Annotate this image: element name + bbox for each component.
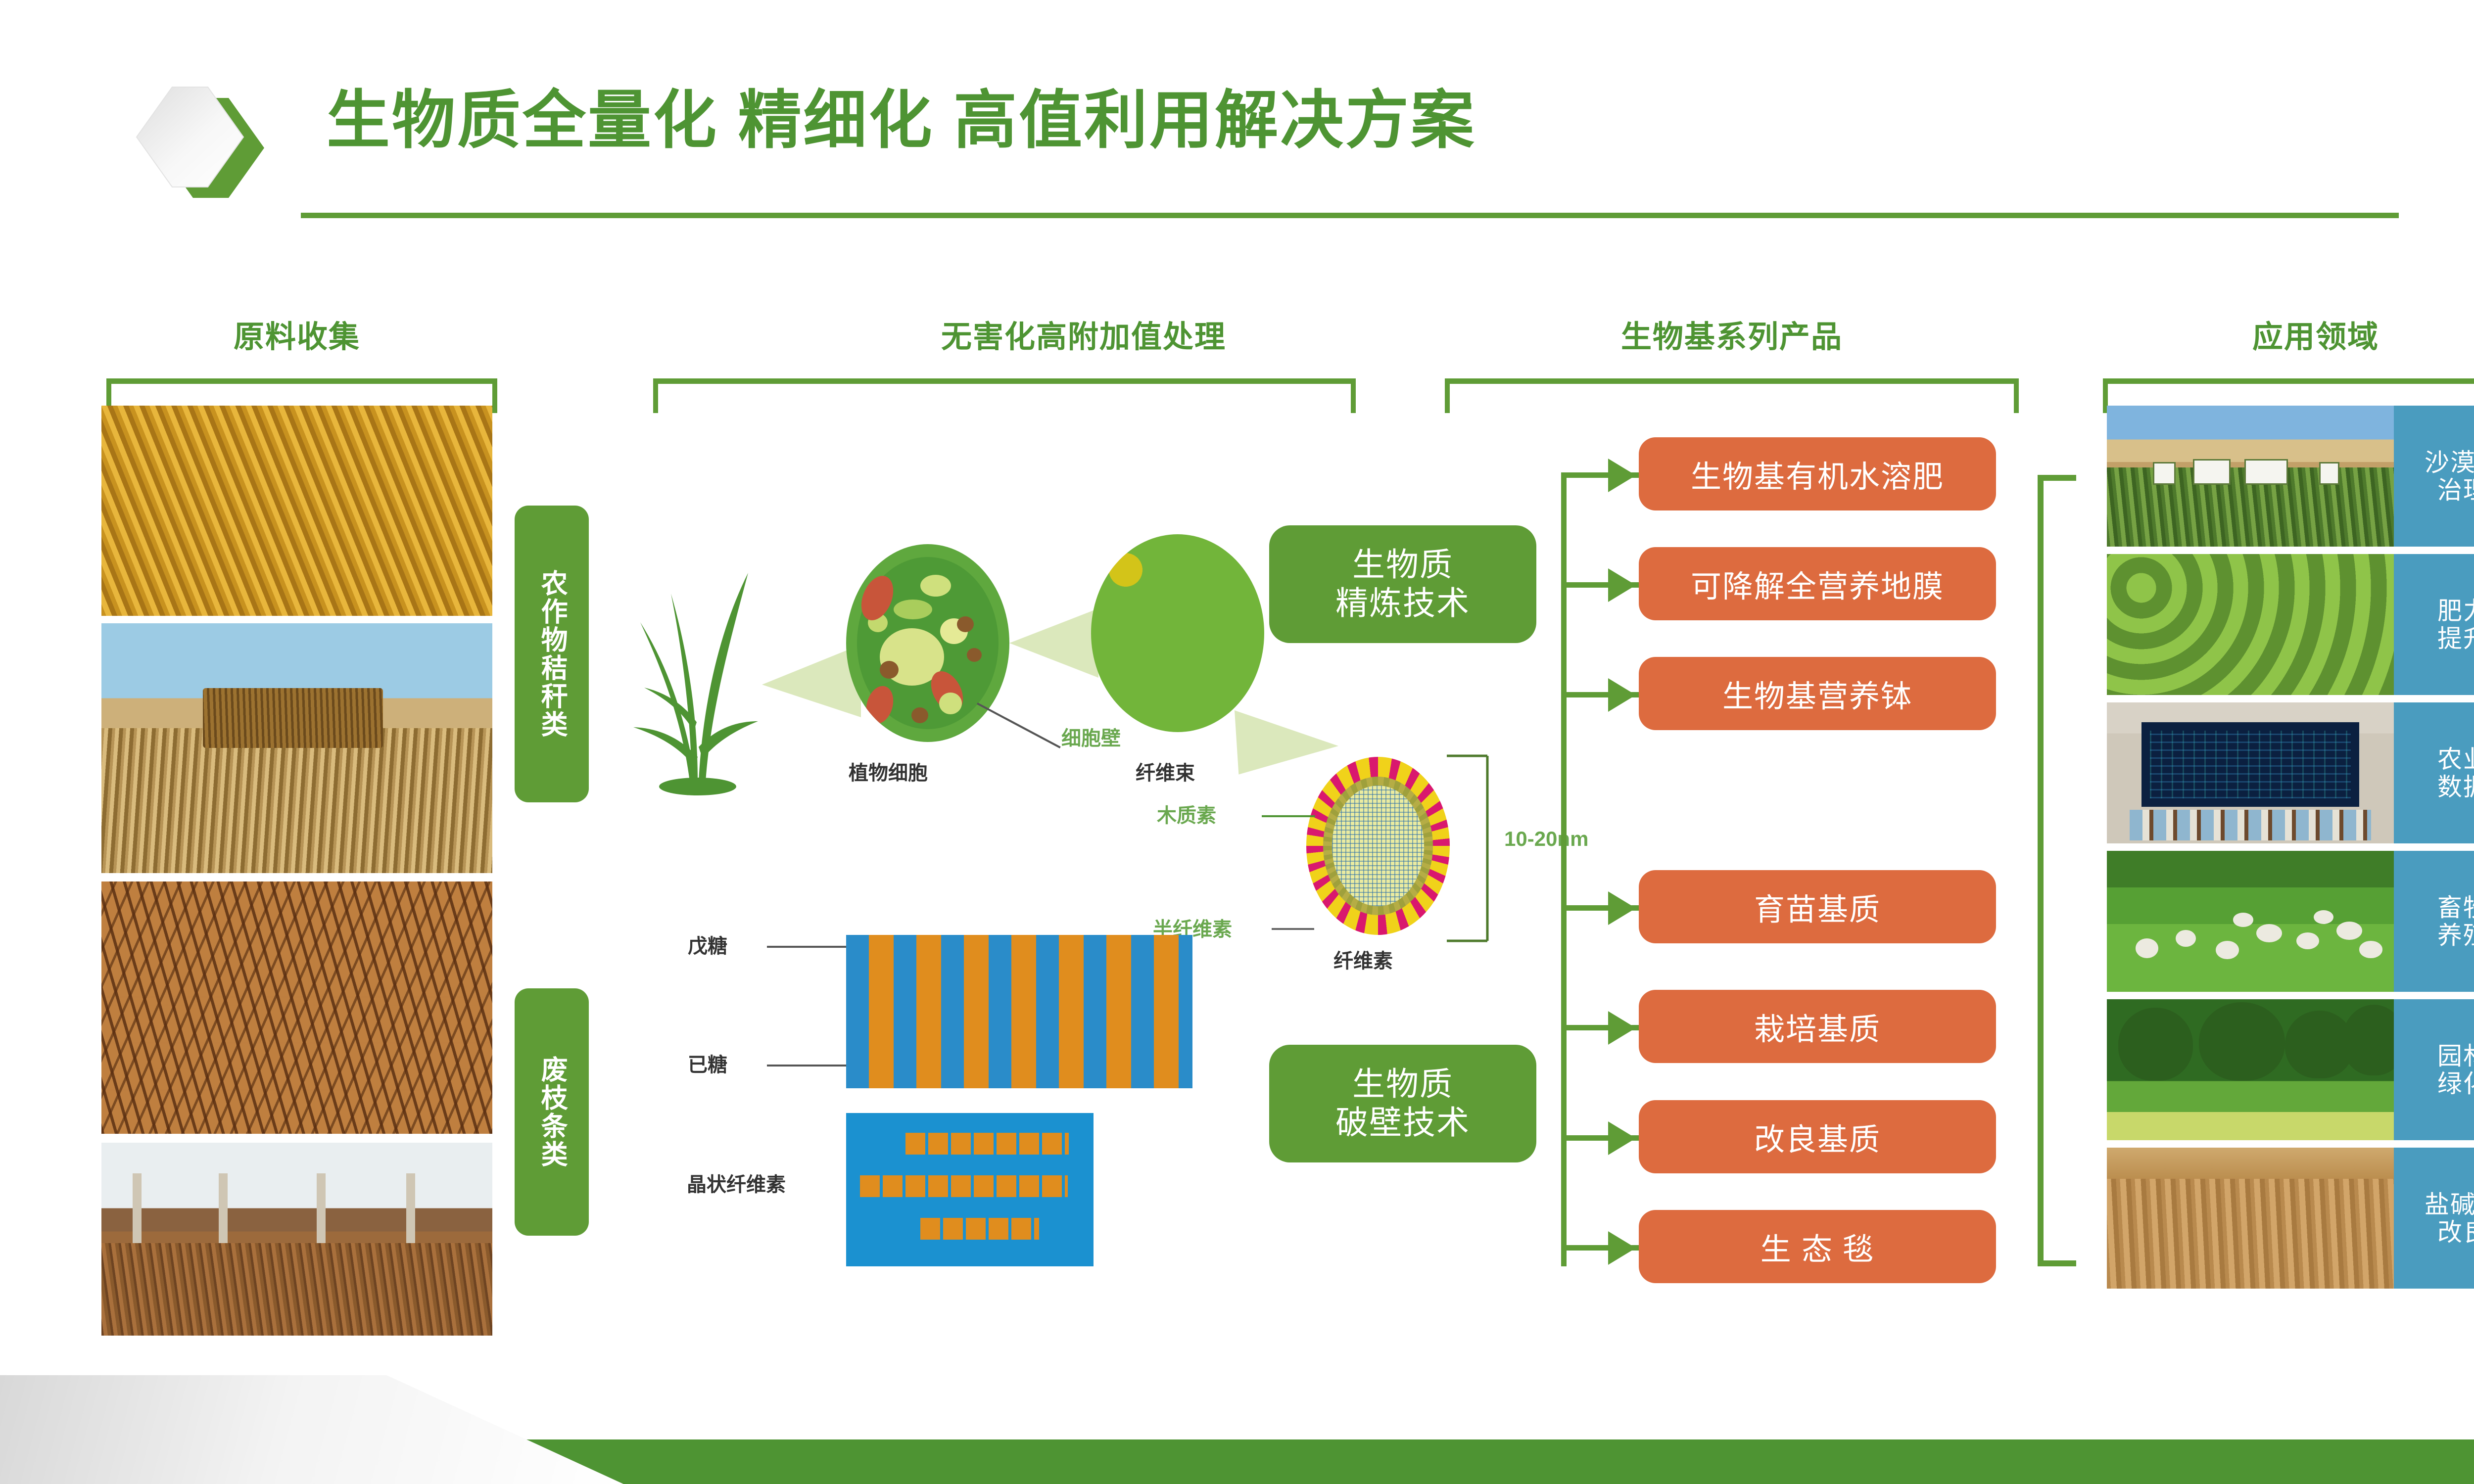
label-fiber-bundle: 纤维束	[1136, 757, 1195, 786]
beam-bundle-to-fiber	[1235, 693, 1338, 782]
product-pill-0[interactable]: 生物基有机水溶肥	[1639, 437, 1996, 510]
application-tag-livestock: 畜牧 养殖	[2394, 851, 2474, 992]
title-underline	[301, 213, 2399, 218]
app-tag-line1: 畜牧	[2437, 894, 2474, 922]
section-title-applications: 应用领域	[2093, 312, 2474, 356]
tech-line-1: 生物质	[1352, 1065, 1453, 1104]
app-tag-line2: 数据	[2437, 773, 2474, 801]
application-tag-desertification: 沙漠化 治理	[2394, 406, 2474, 547]
scale-bar-icon	[1445, 752, 1504, 945]
application-row-livestock[interactable]: 畜牧 养殖	[2107, 851, 2474, 992]
tech-line-1: 生物质	[1352, 546, 1453, 584]
footer-wedge-decoration	[0, 1375, 623, 1484]
hemicellulose-leader-line	[1272, 928, 1314, 930]
application-row-fertility[interactable]: 肥力 提升	[2107, 554, 2474, 695]
product-pill-6[interactable]: 生 态 毯	[1639, 1210, 1996, 1283]
application-domain-column: 沙漠化 治理 肥力 提升 农业 数据	[2107, 406, 2474, 1341]
photo-sheep-pasture	[2107, 851, 2394, 992]
label-lignin: 木质素	[1157, 799, 1216, 828]
title-bar: 生物质全量化 精细化 高值利用解决方案	[0, 0, 2474, 232]
pentose-leader-line	[767, 946, 846, 948]
beam-cell-to-bundle	[1009, 608, 1098, 678]
section-bracket-processing	[653, 378, 1356, 413]
product-pill-5[interactable]: 改良基质	[1639, 1100, 1996, 1173]
page-title: 生物质全量化 精细化 高值利用解决方案	[327, 89, 1476, 152]
cell-wall-leader-line	[977, 702, 1061, 748]
photo-vineyard-pruning	[101, 1143, 492, 1336]
application-tag-saline: 盐碱地 改良	[2394, 1148, 2474, 1289]
raw-material-photo-column	[101, 406, 492, 1336]
product-pill-3[interactable]: 育苗基质	[1639, 870, 1996, 943]
beam-plant-to-cell	[762, 643, 861, 717]
photo-straw-bale-field	[101, 623, 492, 873]
label-pentose: 戊糖	[688, 930, 727, 959]
photo-cabbage-field	[2107, 554, 2394, 695]
crystal-cellulose-illustration	[846, 1113, 1094, 1266]
label-crystal-cellulose: 晶状纤维素	[687, 1168, 786, 1197]
grass-plant-icon	[623, 524, 772, 796]
application-tag-fertility: 肥力 提升	[2394, 554, 2474, 695]
label-fiber-scale: 10-20nm	[1504, 827, 1588, 851]
app-tag-line1: 肥力	[2437, 597, 2474, 625]
product-pill-1[interactable]: 可降解全营养地膜	[1639, 547, 1996, 620]
photo-data-control-room	[2107, 702, 2394, 843]
label-hexose: 已糖	[688, 1049, 727, 1077]
section-title-products: 生物基系列产品	[1435, 312, 2029, 356]
application-row-greening[interactable]: 园林 绿化	[2107, 999, 2474, 1140]
tech-pill-biomass-refining[interactable]: 生物质 精炼技术	[1269, 525, 1536, 643]
hexose-leader-line	[767, 1065, 846, 1067]
application-row-desertification[interactable]: 沙漠化 治理	[2107, 406, 2474, 547]
section-bracket-products	[1445, 378, 2019, 413]
fiber-bundle-illustration	[1091, 534, 1264, 732]
app-tag-line2: 提升	[2437, 625, 2474, 652]
application-tag-agridata: 农业 数据	[2394, 702, 2474, 843]
sugar-chain-illustration	[846, 935, 1192, 1088]
plant-cell-illustration	[846, 544, 1009, 742]
label-cellulose: 纤维素	[1333, 945, 1393, 974]
app-tag-line1: 园林	[2437, 1042, 2474, 1070]
photo-park-trees	[2107, 999, 2394, 1140]
applications-bracket	[2038, 475, 2076, 1266]
app-tag-line2: 治理	[2437, 476, 2474, 504]
section-title-processing: 无害化高附加值处理	[623, 312, 1544, 356]
product-pill-4[interactable]: 栽培基质	[1639, 990, 1996, 1063]
photo-desert-restoration	[2107, 406, 2394, 547]
app-tag-line1: 沙漠化	[2425, 449, 2474, 476]
photo-corn-straw-field	[101, 406, 492, 616]
photo-dry-branch-pile	[101, 881, 492, 1134]
app-tag-line2: 改良	[2437, 1218, 2474, 1246]
app-tag-line2: 绿化	[2437, 1070, 2474, 1098]
lignin-leader-line	[1262, 815, 1315, 817]
tech-pill-biomass-cellwall[interactable]: 生物质 破壁技术	[1269, 1045, 1536, 1162]
application-row-agridata[interactable]: 农业 数据	[2107, 702, 2474, 843]
app-tag-line2: 养殖	[2437, 922, 2474, 949]
label-crop-straw: 农作物秸秆类	[515, 506, 589, 802]
application-tag-greening: 园林 绿化	[2394, 999, 2474, 1140]
app-tag-line1: 盐碱地	[2425, 1191, 2474, 1218]
photo-saline-soil	[2107, 1148, 2394, 1289]
application-row-saline[interactable]: 盐碱地 改良	[2107, 1148, 2474, 1289]
cellulose-fiber-cross-section	[1306, 757, 1450, 935]
label-cell-wall: 细胞壁	[1061, 722, 1121, 751]
product-pill-2[interactable]: 生物基营养钵	[1639, 657, 1996, 730]
section-title-raw-material: 原料收集	[114, 312, 480, 356]
tech-line-2: 精炼技术	[1335, 584, 1470, 623]
hexagon-logo-icon	[135, 83, 298, 213]
app-tag-line1: 农业	[2437, 745, 2474, 773]
tech-line-2: 破壁技术	[1335, 1104, 1470, 1142]
label-plant-cell: 植物细胞	[849, 757, 928, 786]
label-waste-branch: 废枝条类	[515, 988, 589, 1236]
